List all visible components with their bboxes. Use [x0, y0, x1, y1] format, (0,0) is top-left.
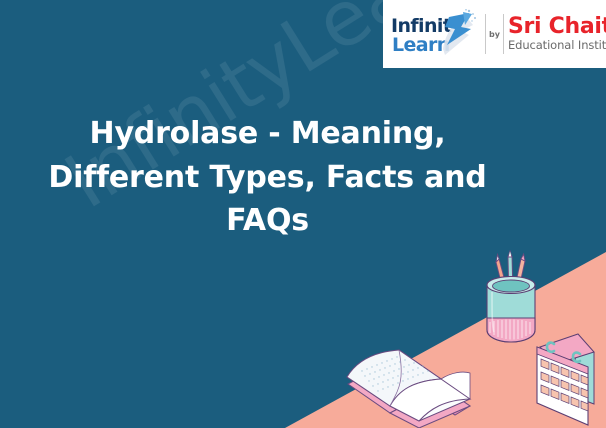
poster-canvas: InfinityLearn.com: [0, 0, 606, 428]
brand-separator: by: [485, 12, 504, 56]
sri-chaitanya-subtitle: Educational Institutions: [508, 39, 600, 52]
separator-line: [485, 14, 486, 54]
pencil-peach-left: [496, 255, 509, 299]
by-label: by: [489, 30, 500, 39]
arrow-swoosh-icon: [439, 9, 481, 59]
pencil-teal-middle: [508, 251, 513, 297]
brand-logo-bar: Infinity Learn by Sri Chaitanya Educatio…: [383, 0, 606, 68]
sri-chaitanya-title: Sri Chaitanya: [508, 16, 600, 38]
sri-chaitanya-logo: Sri Chaitanya Educational Institutions: [508, 16, 600, 52]
infinity-learn-logo: Infinity Learn: [391, 5, 483, 63]
page-title: Hydrolase - Meaning, Different Types, Fa…: [40, 112, 495, 243]
separator-line-2: [503, 14, 504, 54]
pencil-peach-right: [513, 254, 525, 297]
